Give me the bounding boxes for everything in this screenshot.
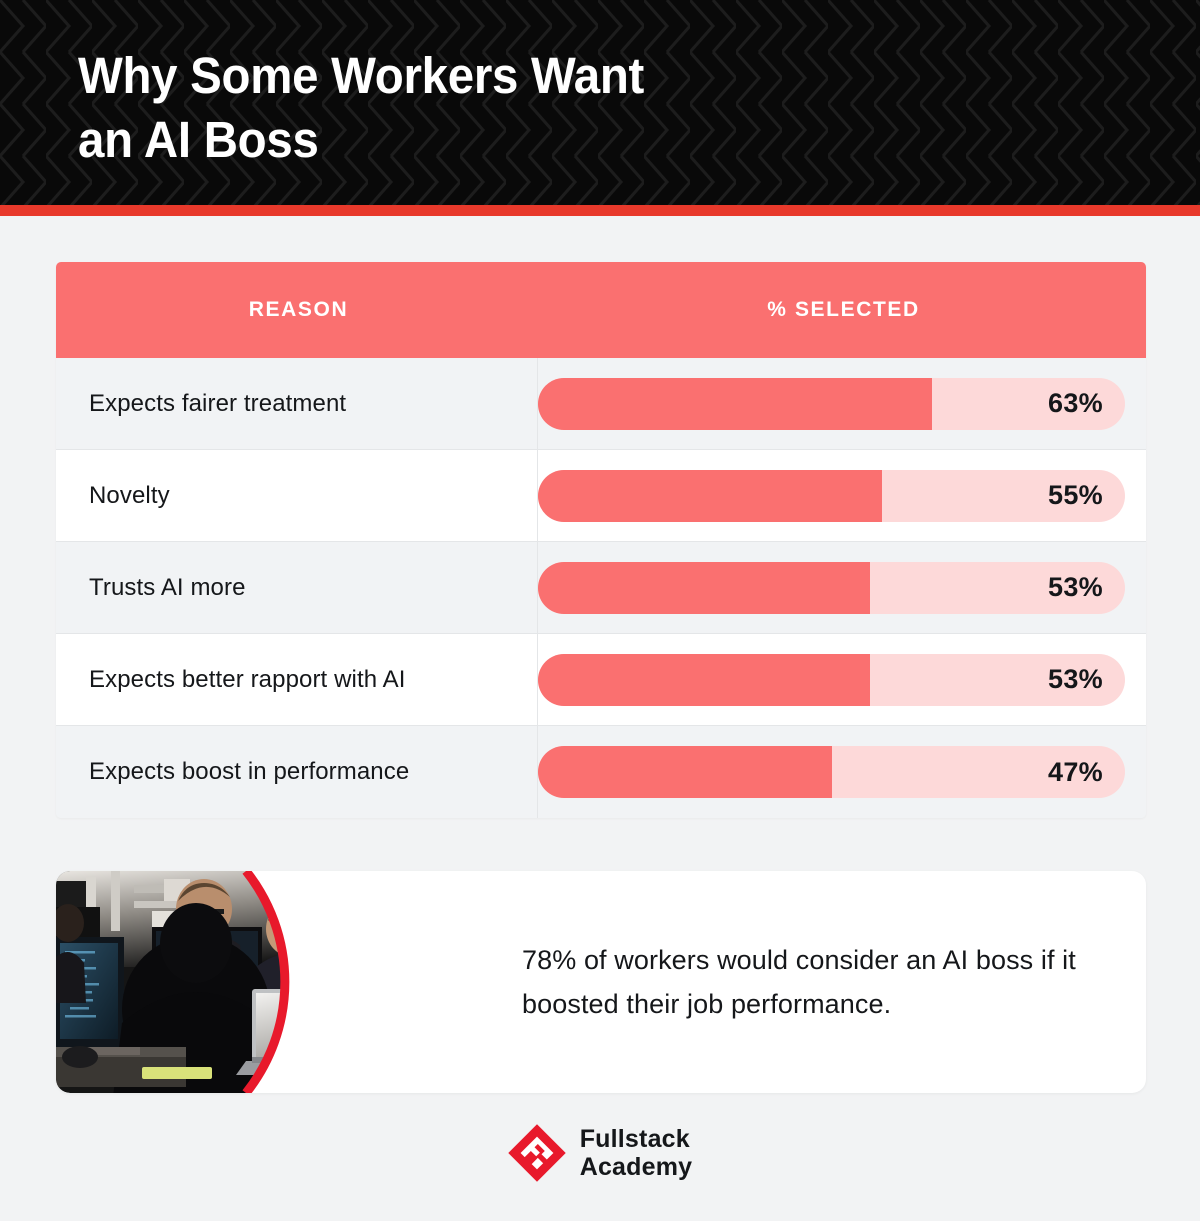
office-photo [56, 871, 456, 1093]
callout-text: 78% of workers would consider an AI boss… [522, 871, 1132, 1093]
column-header-percent: % SELECTED [541, 262, 1146, 358]
reason-label: Expects boost in performance [56, 726, 538, 818]
bar-track: 47% [538, 746, 1125, 798]
bar-fill [538, 746, 832, 798]
bar-fill [538, 654, 870, 706]
bar-value-label: 55% [1048, 480, 1103, 511]
bar-track: 63% [538, 378, 1125, 430]
bar-cell: 53% [538, 634, 1146, 725]
bar-value-label: 53% [1048, 664, 1103, 695]
fullstack-academy-logo: Fullstack Academy [0, 1124, 1200, 1182]
bar-track: 55% [538, 470, 1125, 522]
table-row: Expects boost in performance 47% [56, 726, 1146, 818]
bar-fill [538, 470, 882, 522]
bar-value-label: 47% [1048, 757, 1103, 788]
table-row: Trusts AI more 53% [56, 542, 1146, 634]
office-photo-image [56, 871, 456, 1093]
callout-card: 78% of workers would consider an AI boss… [56, 871, 1146, 1093]
table-row: Expects better rapport with AI 53% [56, 634, 1146, 726]
column-header-reason: REASON [56, 262, 541, 358]
bar-value-label: 53% [1048, 572, 1103, 603]
logo-wordmark: Fullstack Academy [580, 1125, 693, 1181]
table-row: Novelty 55% [56, 450, 1146, 542]
bar-cell: 63% [538, 358, 1146, 449]
bar-cell: 47% [538, 726, 1146, 818]
table-row: Expects fairer treatment 63% [56, 358, 1146, 450]
reason-label: Trusts AI more [56, 542, 538, 633]
reason-label: Expects fairer treatment [56, 358, 538, 449]
bar-fill [538, 378, 932, 430]
bar-track: 53% [538, 562, 1125, 614]
fullstack-diamond-icon [508, 1124, 566, 1182]
infographic-page: Why Some Workers Want an AI Boss REASON … [0, 0, 1200, 1221]
page-title: Why Some Workers Want an AI Boss [78, 44, 1121, 172]
reason-label: Expects better rapport with AI [56, 634, 538, 725]
bar-track: 53% [538, 654, 1125, 706]
table-header-row: REASON % SELECTED [56, 262, 1146, 358]
accent-bar [0, 205, 1200, 216]
bar-fill [538, 562, 870, 614]
bar-cell: 55% [538, 450, 1146, 541]
bar-cell: 53% [538, 542, 1146, 633]
header-banner: Why Some Workers Want an AI Boss [0, 0, 1200, 205]
reasons-table: REASON % SELECTED Expects fairer treatme… [56, 262, 1146, 818]
reason-label: Novelty [56, 450, 538, 541]
bar-value-label: 63% [1048, 388, 1103, 419]
